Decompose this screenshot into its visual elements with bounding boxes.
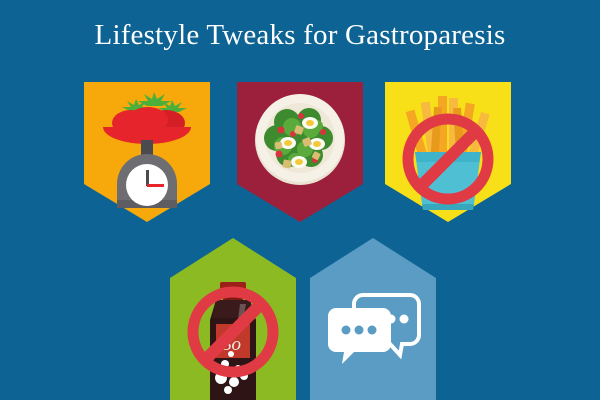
banner-shape-down bbox=[385, 82, 511, 222]
banner-healthy-salad[interactable] bbox=[237, 82, 363, 222]
banner-shape-up bbox=[170, 238, 296, 400]
page-title: Lifestyle Tweaks for Gastroparesis bbox=[0, 20, 600, 52]
banner-talk-to-your-doctor[interactable] bbox=[310, 238, 436, 400]
banner-shape-down bbox=[84, 82, 210, 222]
banner-avoid-soda[interactable]: So bbox=[170, 238, 296, 400]
banner-shape-up bbox=[310, 238, 436, 400]
infographic-canvas: Lifestyle Tweaks for Gastroparesis bbox=[0, 0, 600, 400]
banner-avoid-fried-food[interactable] bbox=[385, 82, 511, 222]
banner-portion-control[interactable] bbox=[84, 82, 210, 222]
banner-shape-down bbox=[237, 82, 363, 222]
